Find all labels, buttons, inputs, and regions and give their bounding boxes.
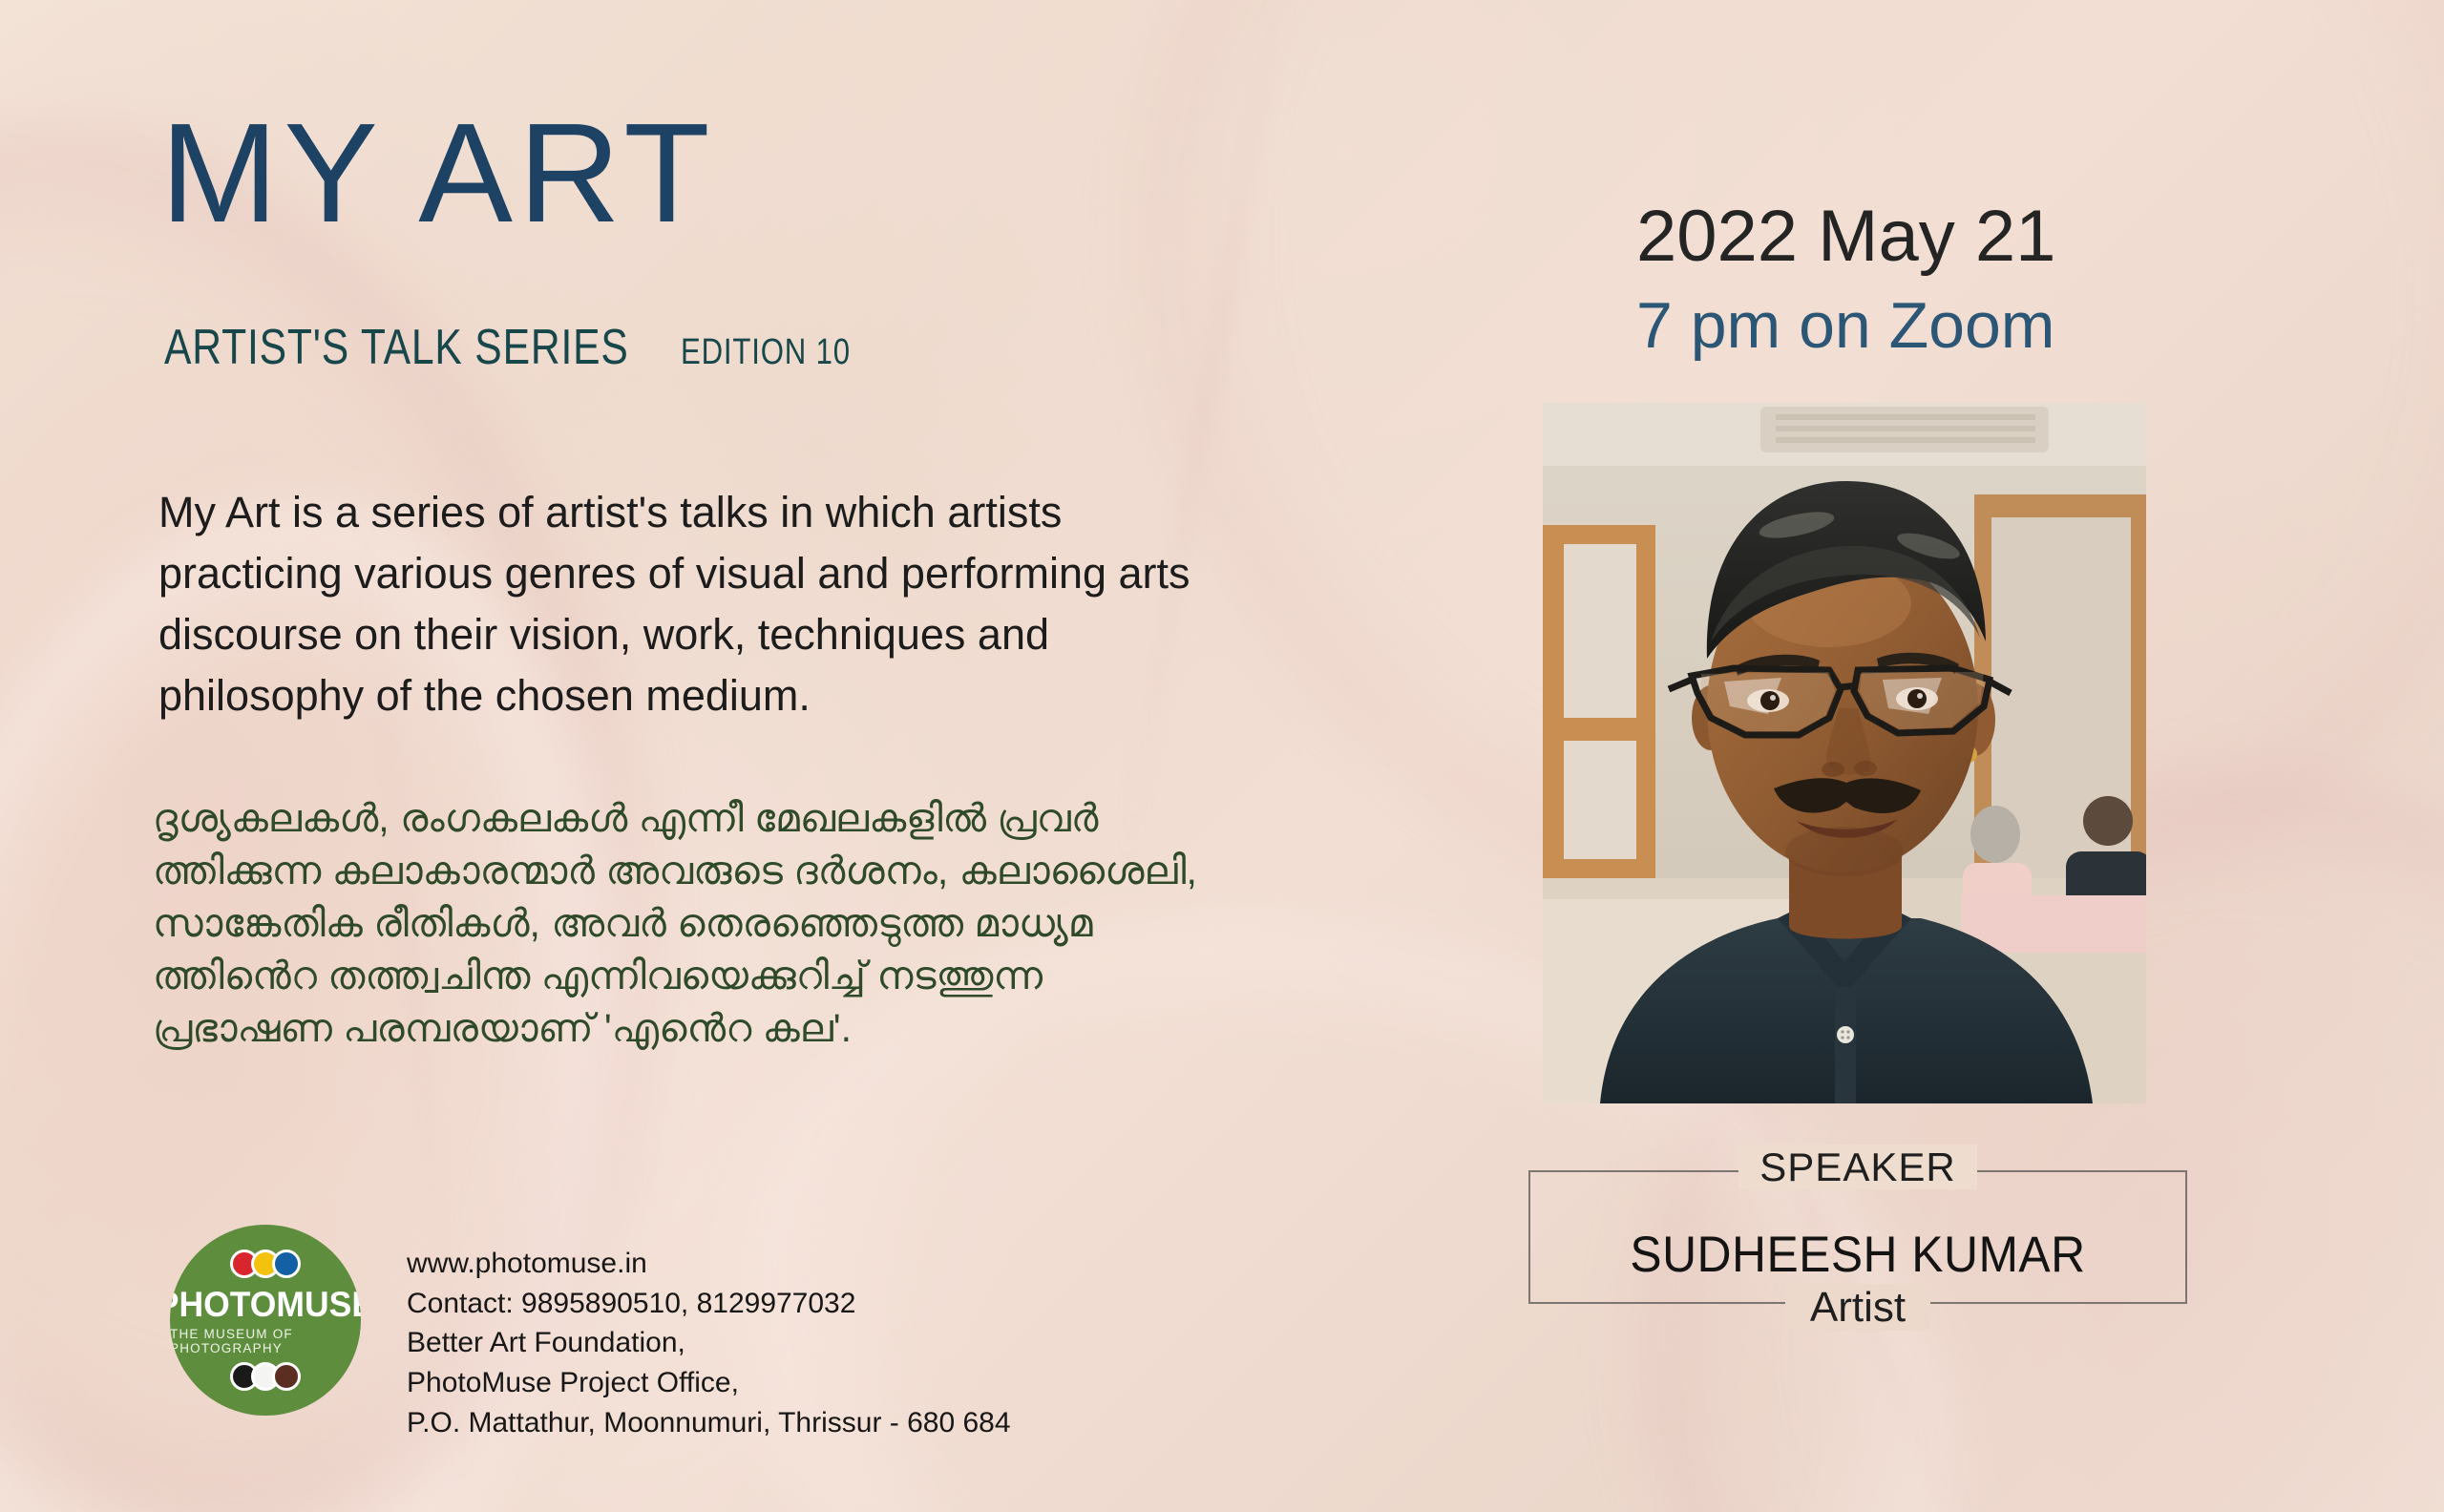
contact-organisation: Better Art Foundation, xyxy=(407,1323,1011,1363)
description-malayalam-line: സാങ്കേതിക രീതികൾ, അവർ തെരഞ്ഞെടുത്ത മാധ്യ… xyxy=(153,897,1222,950)
event-date: 2022 May 21 xyxy=(1636,200,2055,273)
contact-address: P.O. Mattathur, Moonnumuri, Thrissur - 6… xyxy=(407,1403,1011,1443)
description-malayalam-line: ത്തിൻെറ തത്ത്വചിന്ത എന്നിവയെക്കുറിച്ച് ന… xyxy=(153,950,1222,1002)
photomuse-logo: PHOTOMUSE THE MUSEUM OF PHOTOGRAPHY xyxy=(170,1225,361,1416)
logo-top-dots xyxy=(234,1249,297,1278)
speaker-label-text: SPEAKER xyxy=(1738,1144,1976,1189)
speaker-photo-illustration xyxy=(1543,403,2146,1103)
logo-dot-brown xyxy=(272,1362,301,1391)
description-malayalam: ദൃശ്യകലകൾ, രംഗകലകൾ എന്നീ മേഖലകളിൽ പ്രവർ … xyxy=(153,792,1222,1055)
logo-dot-blue xyxy=(272,1249,301,1278)
description-english-line: practicing various genres of visual and … xyxy=(158,543,1295,604)
logo-wordmark: PHOTOMUSE xyxy=(170,1285,361,1325)
contact-website: www.photomuse.in xyxy=(407,1244,1011,1284)
poster-subtitle-row: ARTIST'S TALK SERIES EDITION 10 xyxy=(164,323,888,372)
poster-subtitle: ARTIST'S TALK SERIES xyxy=(164,323,629,372)
poster-title: MY ART xyxy=(160,103,716,244)
description-english-line: philosophy of the chosen medium. xyxy=(158,665,1295,726)
event-time: 7 pm on Zoom xyxy=(1636,293,2054,358)
contact-phone: Contact: 9895890510, 8129977032 xyxy=(407,1284,1011,1324)
description-malayalam-line: ദൃശ്യകലകൾ, രംഗകലകൾ എന്നീ മേഖലകളിൽ പ്രവർ xyxy=(153,792,1222,845)
description-english: My Art is a series of artist's talks in … xyxy=(158,482,1295,726)
speaker-name: SUDHEESH KUMAR xyxy=(1549,1229,2168,1280)
logo-bottom-dots xyxy=(234,1362,297,1391)
description-malayalam-line: ത്തിക്കുന്ന കലാകാരന്മാർ അവരുടെ ദർശനം, കല… xyxy=(153,845,1222,897)
speaker-label: SPEAKER xyxy=(1528,1147,2187,1187)
speaker-role: Artist xyxy=(1528,1287,2187,1329)
speaker-role-text: Artist xyxy=(1785,1284,1930,1331)
poster-edition: EDITION 10 xyxy=(681,334,851,370)
description-english-line: discourse on their vision, work, techniq… xyxy=(158,604,1295,665)
poster-canvas: MY ART ARTIST'S TALK SERIES EDITION 10 M… xyxy=(0,0,2444,1512)
contact-office: PhotoMuse Project Office, xyxy=(407,1363,1011,1403)
speaker-photo xyxy=(1543,403,2146,1103)
description-malayalam-line: പ്രഭാഷണ പരമ്പരയാണ് 'എൻെറ കല'. xyxy=(153,1002,1222,1055)
description-english-line: My Art is a series of artist's talks in … xyxy=(158,482,1295,543)
background-streak xyxy=(1120,0,1294,871)
contact-block: www.photomuse.in Contact: 9895890510, 81… xyxy=(407,1244,1011,1442)
logo-tagline: THE MUSEUM OF PHOTOGRAPHY xyxy=(170,1327,361,1355)
